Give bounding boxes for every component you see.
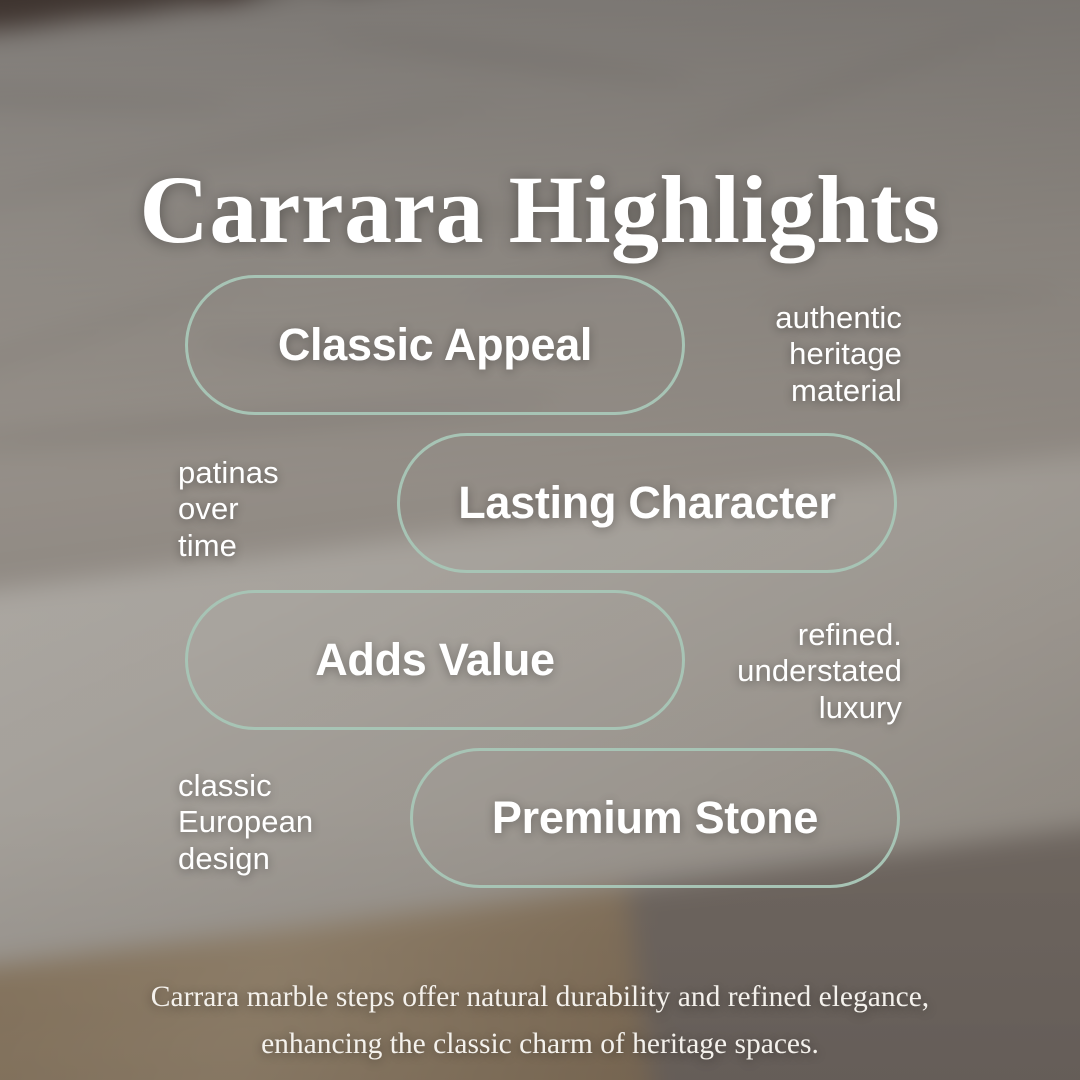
infographic-canvas: Carrara Highlights Classic Appeal Lastin… [0, 0, 1080, 1080]
highlight-pill-label: Lasting Character [458, 477, 836, 529]
side-note-authentic-heritage-material: authentic heritage material [775, 300, 902, 409]
highlight-pill-adds-value[interactable]: Adds Value [185, 590, 685, 730]
highlight-pill-label: Premium Stone [492, 792, 818, 844]
highlight-pill-classic-appeal[interactable]: Classic Appeal [185, 275, 685, 415]
highlight-pill-lasting-character[interactable]: Lasting Character [397, 433, 897, 573]
footer-caption: Carrara marble steps offer natural durab… [120, 974, 960, 1070]
side-note-patinas-over-time: patinas over time [178, 455, 279, 564]
highlight-pill-label: Adds Value [315, 634, 555, 686]
highlight-pill-premium-stone[interactable]: Premium Stone [410, 748, 900, 888]
side-note-classic-european-design: classic European design [178, 768, 313, 877]
highlight-pill-label: Classic Appeal [278, 319, 592, 371]
side-note-refined-understated-luxury: refined. understated luxury [737, 617, 902, 726]
page-title: Carrara Highlights [0, 160, 1080, 261]
